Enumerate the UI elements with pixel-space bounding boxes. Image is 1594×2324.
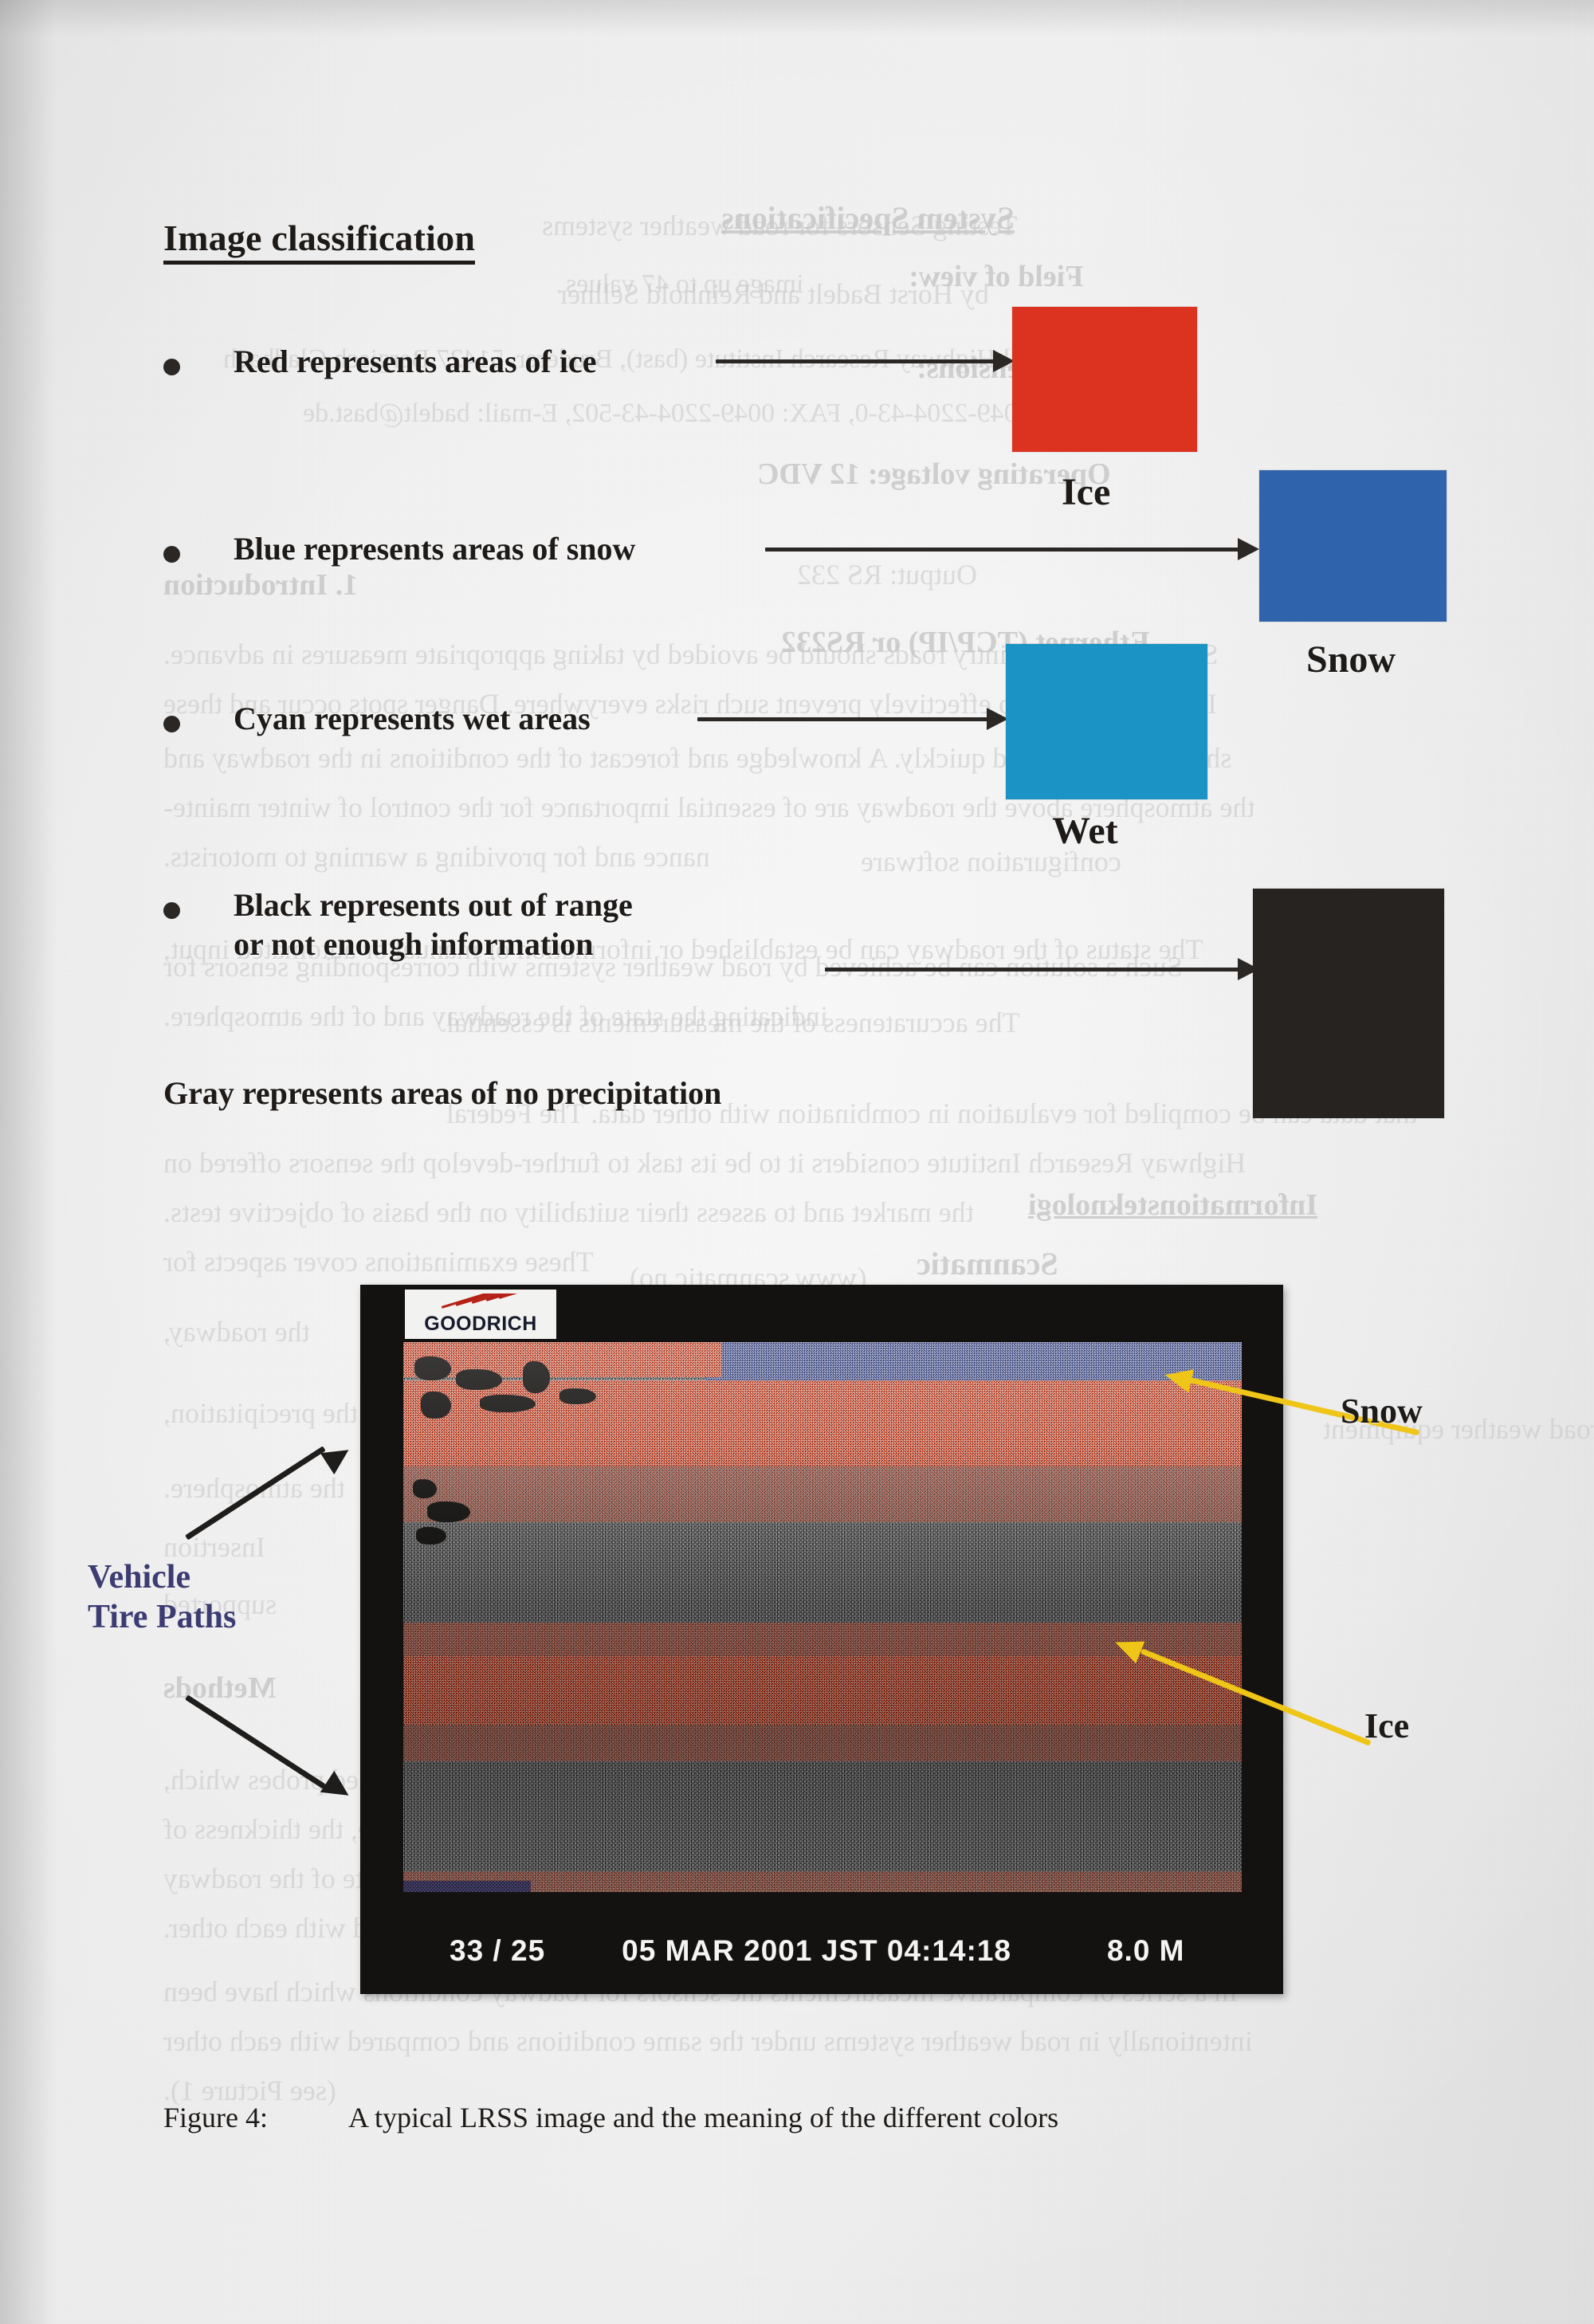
legend-text-ice: Red represents areas of ice [234, 343, 596, 382]
color-swatch-black [1253, 889, 1444, 1118]
annotation-label-tire-paths: Vehicle Tire Paths [88, 1558, 236, 1637]
figure-caption: Figure 4: A typical LRSS image and the m… [163, 2101, 1058, 2134]
arrow-to-ice-swatch [716, 351, 1015, 371]
status-frame-counter: 33 / 25 [450, 1934, 545, 1968]
page-title: Image classification [163, 217, 475, 265]
figure-caption-text: A typical LRSS image and the meaning of … [348, 2101, 1058, 2134]
goodrich-swoosh-icon [438, 1294, 550, 1313]
legend-text-snow: Blue represents areas of snow [234, 530, 635, 569]
bullet-marker-snow [163, 546, 180, 563]
swatch-label-wet: Wet [1052, 809, 1118, 853]
lrss-image-canvas [403, 1342, 1242, 1892]
annotation-arrow-ice [1106, 1618, 1385, 1721]
color-swatch-snow [1259, 470, 1447, 622]
bullet-marker-black [163, 902, 180, 919]
arrow-to-snow-swatch [765, 539, 1259, 559]
legend-text-wet: Cyan represents wet areas [234, 700, 591, 739]
lrss-shading [403, 1342, 1242, 1892]
page-content: Image classification Red represents area… [0, 0, 1594, 2324]
arrow-to-black-swatch [825, 959, 1259, 979]
annotation-label-ice: Ice [1364, 1706, 1409, 1746]
legend-text-gray: Gray represents areas of no precipitatio… [163, 1074, 721, 1112]
status-range: 8.0 M [1107, 1934, 1185, 1968]
bullet-marker-ice [163, 359, 180, 375]
legend-text-black: Black represents out of range or not eno… [234, 886, 633, 964]
color-swatch-wet [1006, 644, 1207, 799]
document-page: System SpecificationsTesting Sensors for… [0, 0, 1594, 2324]
goodrich-logo-text: GOODRICH [424, 1314, 537, 1339]
swatch-label-snow: Snow [1306, 638, 1396, 681]
figure-caption-number: Figure 4: [163, 2101, 348, 2134]
annotation-arrow-tire-lower [185, 1682, 360, 1801]
swatch-label-ice: Ice [1062, 470, 1110, 514]
arrow-to-wet-swatch [697, 709, 1008, 729]
goodrich-logo: GOODRICH [405, 1290, 556, 1339]
lrss-status-bar: 33 / 25 05 MAR 2001 JST 04:14:18 8.0 M [360, 1929, 1283, 1973]
annotation-label-snow: Snow [1341, 1391, 1423, 1431]
status-datetime: 05 MAR 2001 JST 04:14:18 [622, 1934, 1011, 1968]
annotation-arrow-tire-upper [185, 1441, 360, 1553]
color-swatch-ice [1012, 307, 1197, 452]
bullet-marker-wet [163, 716, 180, 732]
